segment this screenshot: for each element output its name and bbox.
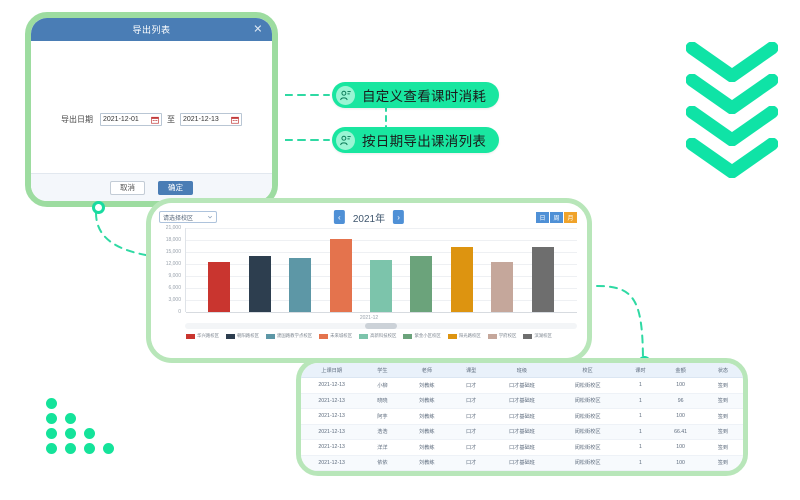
y-axis-tick-label: 9,000 bbox=[168, 273, 181, 279]
x-axis-label: 2021-12 bbox=[360, 315, 378, 321]
table-cell: 100 bbox=[658, 378, 702, 394]
decorative-dot bbox=[65, 428, 76, 439]
table-cell: 签到 bbox=[703, 378, 743, 394]
table-cell: 口才基础班 bbox=[491, 440, 552, 456]
chart-bar[interactable] bbox=[410, 256, 432, 312]
legend-item[interactable]: 阳光路校区 bbox=[448, 333, 481, 339]
chart-legend: 华兴路校区朝阳路校区建国路教学点校区未来城校区高新科技校区紫金小区校区阳光路校区… bbox=[159, 333, 579, 339]
table-cell: 小柳 bbox=[362, 378, 402, 394]
table-cell: 刘教练 bbox=[403, 393, 452, 409]
table-column-header: 校区 bbox=[553, 363, 623, 378]
legend-swatch bbox=[186, 334, 195, 339]
close-icon[interactable]: ✕ bbox=[253, 24, 263, 35]
table-cell: 依依 bbox=[362, 455, 402, 471]
table-cell: 口才 bbox=[451, 393, 491, 409]
callout-pill-2: 按日期导出课消列表 bbox=[332, 127, 499, 153]
table-row[interactable]: 2021-12-13依依刘教练口才口才基础班闵松街校区1100签到 bbox=[301, 455, 743, 471]
table-cell: 签到 bbox=[703, 424, 743, 440]
user-check-icon bbox=[336, 86, 355, 105]
y-axis-tick-label: 3,000 bbox=[168, 297, 181, 303]
period-toggle-0[interactable]: 日 bbox=[536, 212, 549, 223]
table-cell: 刘教练 bbox=[403, 424, 452, 440]
chart-bar[interactable] bbox=[330, 239, 352, 312]
legend-swatch bbox=[226, 334, 235, 339]
table-cell: 刘教练 bbox=[403, 409, 452, 425]
table-cell: 66.41 bbox=[658, 424, 702, 440]
period-toggle-1[interactable]: 周 bbox=[550, 212, 563, 223]
y-axis-tick-label: 0 bbox=[178, 309, 181, 315]
decorative-dot bbox=[103, 443, 114, 454]
table-cell: 口才 bbox=[451, 378, 491, 394]
table-row[interactable]: 2021-12-13浩浩刘教练口才口才基础班闵松街校区166.41签到 bbox=[301, 424, 743, 440]
table-cell: 浩浩 bbox=[362, 424, 402, 440]
table-cell: 口才 bbox=[451, 440, 491, 456]
table-cell: 口才 bbox=[451, 424, 491, 440]
y-axis-tick-label: 21,000 bbox=[166, 225, 181, 231]
table-cell: 闵松街校区 bbox=[553, 393, 623, 409]
chart-bar[interactable] bbox=[451, 247, 473, 312]
table-column-header: 老师 bbox=[403, 363, 452, 378]
chart-scrollbar[interactable] bbox=[185, 323, 577, 329]
y-axis-tick-label: 12,000 bbox=[166, 261, 181, 267]
table-cell: 刘教练 bbox=[403, 455, 452, 471]
legend-swatch bbox=[359, 334, 368, 339]
table-cell: 闵松街校区 bbox=[553, 455, 623, 471]
period-toggle-group: 日周月 bbox=[536, 212, 577, 223]
table-cell: 阿芋 bbox=[362, 409, 402, 425]
legend-item[interactable]: 朝阳路校区 bbox=[226, 333, 259, 339]
legend-label: 高新科技校区 bbox=[370, 333, 396, 339]
table-cell: 口才基础班 bbox=[491, 424, 552, 440]
chart-scrollbar-thumb[interactable] bbox=[365, 323, 396, 329]
legend-label: 建国路教学点校区 bbox=[277, 333, 312, 339]
connector-dashed-pill-1 bbox=[285, 90, 335, 100]
table-cell: 2021-12-13 bbox=[301, 455, 362, 471]
chart-toolbar: 请选择校区 ‹ 2021年 › 日周月 bbox=[159, 209, 579, 225]
chevron-right-icon[interactable]: › bbox=[393, 210, 404, 224]
table-cell: 口才基础班 bbox=[491, 455, 552, 471]
anchor-point-dialog bbox=[92, 201, 105, 214]
table-cell: 闵松街校区 bbox=[553, 424, 623, 440]
decorative-chevron-group bbox=[686, 42, 778, 172]
chart-panel-card: 请选择校区 ‹ 2021年 › 日周月 03,0006,0009,00012,0… bbox=[146, 198, 592, 363]
table-cell: 100 bbox=[658, 455, 702, 471]
chart-plot-area: 03,0006,0009,00012,00015,00018,00021,000… bbox=[159, 228, 579, 323]
legend-label: 未来城校区 bbox=[330, 333, 352, 339]
table-cell: 签到 bbox=[703, 409, 743, 425]
dialog-footer: 取消 确定 bbox=[31, 173, 272, 201]
chart-bar[interactable] bbox=[289, 258, 311, 312]
dialog-title: 导出列表 bbox=[132, 23, 170, 36]
legend-item[interactable]: 紫金小区校区 bbox=[403, 333, 440, 339]
callout-pill-2-label: 按日期导出课消列表 bbox=[362, 130, 486, 150]
export-dialog-card: 导出列表 ✕ 导出日期 2021-12-01 bbox=[25, 12, 278, 207]
decorative-dot bbox=[46, 443, 57, 454]
export-date-label: 导出日期 bbox=[61, 114, 93, 125]
table-cell: 2021-12-13 bbox=[301, 409, 362, 425]
campus-select-value: 请选择校区 bbox=[163, 213, 207, 222]
y-axis-tick-label: 15,000 bbox=[166, 249, 181, 255]
year-navigator: ‹ 2021年 › bbox=[334, 210, 404, 225]
decorative-dot-grid bbox=[46, 398, 124, 454]
table-column-header: 金额 bbox=[658, 363, 702, 378]
gridline bbox=[186, 312, 577, 313]
decorative-dot bbox=[84, 443, 95, 454]
table-cell: 闵松街校区 bbox=[553, 440, 623, 456]
table-cell: 2021-12-13 bbox=[301, 393, 362, 409]
table-cell: 口才基础班 bbox=[491, 409, 552, 425]
calendar-icon[interactable] bbox=[231, 116, 239, 124]
chart-bar[interactable] bbox=[208, 262, 230, 312]
legend-label: 学府校区 bbox=[499, 333, 517, 339]
period-toggle-2[interactable]: 月 bbox=[564, 212, 577, 223]
table-column-header: 学生 bbox=[362, 363, 402, 378]
table-row[interactable]: 2021-12-13阿芋刘教练口才口才基础班闵松街校区1100签到 bbox=[301, 409, 743, 425]
decorative-dot bbox=[84, 428, 95, 439]
table-row[interactable]: 2021-12-13洋洋刘教练口才口才基础班闵松街校区1100签到 bbox=[301, 440, 743, 456]
legend-item[interactable]: 学府校区 bbox=[488, 333, 517, 339]
decorative-dot bbox=[46, 428, 57, 439]
legend-label: 朝阳路校区 bbox=[237, 333, 259, 339]
export-date-row: 导出日期 2021-12-01 至 2021-12-13 bbox=[31, 113, 272, 126]
table-cell: 1 bbox=[623, 424, 659, 440]
table-cell: 洋洋 bbox=[362, 440, 402, 456]
legend-swatch bbox=[266, 334, 275, 339]
date-to-value: 2021-12-13 bbox=[183, 116, 231, 123]
table-cell: 晓晓 bbox=[362, 393, 402, 409]
table-column-header: 课型 bbox=[451, 363, 491, 378]
y-axis: 03,0006,0009,00012,00015,00018,00021,000 bbox=[159, 228, 183, 312]
legend-item[interactable]: 滨湖校区 bbox=[523, 333, 552, 339]
table-column-header: 上课日期 bbox=[301, 363, 362, 378]
legend-item[interactable]: 未来城校区 bbox=[319, 333, 352, 339]
table-cell: 2021-12-13 bbox=[301, 378, 362, 394]
confirm-button[interactable]: 确定 bbox=[158, 181, 193, 195]
decorative-dot bbox=[46, 413, 57, 424]
table-cell: 1 bbox=[623, 378, 659, 394]
table-cell: 签到 bbox=[703, 455, 743, 471]
table-cell: 口才基础班 bbox=[491, 378, 552, 394]
legend-swatch bbox=[403, 334, 412, 339]
table-cell: 1 bbox=[623, 455, 659, 471]
legend-swatch bbox=[448, 334, 457, 339]
legend-label: 阳光路校区 bbox=[459, 333, 481, 339]
table-cell: 口才 bbox=[451, 409, 491, 425]
chevron-down-icon bbox=[207, 214, 213, 220]
table-cell: 口才基础班 bbox=[491, 393, 552, 409]
legend-label: 紫金小区校区 bbox=[414, 333, 440, 339]
date-range-separator: 至 bbox=[167, 114, 175, 125]
decorative-dot bbox=[65, 443, 76, 454]
chevron-down-icon bbox=[686, 138, 778, 178]
chart-bar[interactable] bbox=[532, 247, 554, 312]
connector-dashed-pill-2 bbox=[285, 135, 335, 145]
legend-label: 华兴路校区 bbox=[197, 333, 219, 339]
table-cell: 2021-12-13 bbox=[301, 440, 362, 456]
table-cell: 1 bbox=[623, 409, 659, 425]
table-column-header: 课时 bbox=[623, 363, 659, 378]
chevron-left-icon[interactable]: ‹ bbox=[334, 210, 345, 224]
table-head: 上课日期学生老师课型班级校区课时金额状态 bbox=[301, 363, 743, 378]
table-cell: 口才 bbox=[451, 455, 491, 471]
composite-canvas: 导出列表 ✕ 导出日期 2021-12-01 bbox=[0, 0, 800, 500]
table-cell: 闵松街校区 bbox=[553, 409, 623, 425]
date-from-input[interactable]: 2021-12-01 bbox=[100, 113, 162, 126]
table-cell: 刘教练 bbox=[403, 378, 452, 394]
table-row[interactable]: 2021-12-13晓晓刘教练口才口才基础班闵松街校区196签到 bbox=[301, 393, 743, 409]
legend-swatch bbox=[523, 334, 532, 339]
chart-panel: 请选择校区 ‹ 2021年 › 日周月 03,0006,0009,00012,0… bbox=[151, 203, 587, 358]
chart-bar[interactable] bbox=[370, 260, 392, 312]
legend-item[interactable]: 高新科技校区 bbox=[359, 333, 396, 339]
date-to-input[interactable]: 2021-12-13 bbox=[180, 113, 242, 126]
records-table-card: 上课日期学生老师课型班级校区课时金额状态 2021-12-13小柳刘教练口才口才… bbox=[296, 358, 748, 476]
table-cell: 96 bbox=[658, 393, 702, 409]
table-cell: 2021-12-13 bbox=[301, 424, 362, 440]
dialog-titlebar: 导出列表 ✕ bbox=[31, 18, 272, 41]
table-cell: 100 bbox=[658, 409, 702, 425]
decorative-dot bbox=[65, 413, 76, 424]
table-cell: 签到 bbox=[703, 440, 743, 456]
export-dialog: 导出列表 ✕ 导出日期 2021-12-01 bbox=[31, 18, 272, 201]
table-column-header: 状态 bbox=[703, 363, 743, 378]
chart-bars bbox=[185, 228, 577, 312]
table-cell: 刘教练 bbox=[403, 440, 452, 456]
cancel-button[interactable]: 取消 bbox=[110, 181, 145, 195]
legend-item[interactable]: 华兴路校区 bbox=[186, 333, 219, 339]
calendar-icon[interactable] bbox=[151, 116, 159, 124]
table-cell: 闵松街校区 bbox=[553, 378, 623, 394]
y-axis-tick-label: 18,000 bbox=[166, 237, 181, 243]
table-cell: 签到 bbox=[703, 393, 743, 409]
table-body: 2021-12-13小柳刘教练口才口才基础班闵松街校区1100签到2021-12… bbox=[301, 378, 743, 471]
callout-pill-1-label: 自定义查看课时消耗 bbox=[362, 85, 486, 105]
dialog-body: 导出日期 2021-12-01 至 2021-12-13 bbox=[31, 41, 272, 173]
y-axis-tick-label: 6,000 bbox=[168, 285, 181, 291]
chart-bar[interactable] bbox=[491, 262, 513, 312]
legend-swatch bbox=[488, 334, 497, 339]
table-row[interactable]: 2021-12-13小柳刘教练口才口才基础班闵松街校区1100签到 bbox=[301, 378, 743, 394]
year-label: 2021年 bbox=[353, 210, 385, 225]
date-from-value: 2021-12-01 bbox=[103, 116, 151, 123]
table-column-header: 班级 bbox=[491, 363, 552, 378]
legend-label: 滨湖校区 bbox=[534, 333, 552, 339]
table-cell: 100 bbox=[658, 440, 702, 456]
callout-pill-1: 自定义查看课时消耗 bbox=[332, 82, 499, 108]
user-check-icon bbox=[336, 131, 355, 150]
table-cell: 1 bbox=[623, 440, 659, 456]
records-table: 上课日期学生老师课型班级校区课时金额状态 2021-12-13小柳刘教练口才口才… bbox=[301, 363, 743, 471]
legend-item[interactable]: 建国路教学点校区 bbox=[266, 333, 312, 339]
decorative-dot bbox=[46, 398, 57, 409]
legend-swatch bbox=[319, 334, 328, 339]
table-cell: 1 bbox=[623, 393, 659, 409]
table-header-row: 上课日期学生老师课型班级校区课时金额状态 bbox=[301, 363, 743, 378]
chart-bar[interactable] bbox=[249, 256, 271, 312]
campus-select[interactable]: 请选择校区 bbox=[159, 211, 217, 223]
